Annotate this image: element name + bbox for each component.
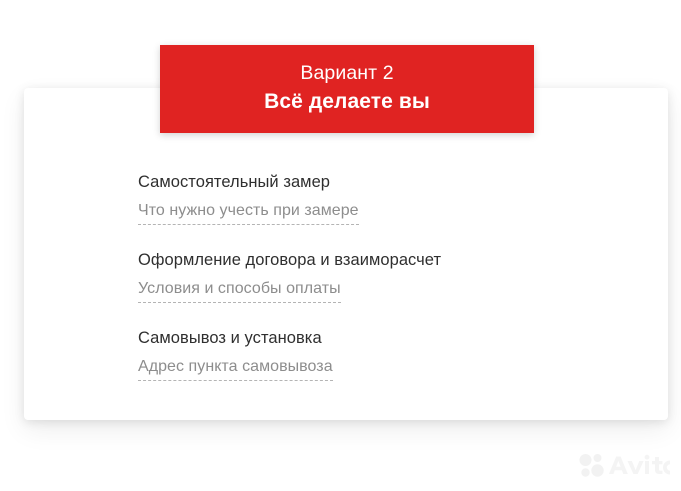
screenshot-root: Вариант 2 Всё делаете вы Самостоятельный… bbox=[0, 0, 681, 491]
steps-list: Самостоятельный замер Что нужно учесть п… bbox=[138, 171, 608, 381]
step-link[interactable]: Условия и способы оплаты bbox=[138, 278, 341, 303]
list-item: Самовывоз и установка Адрес пункта самов… bbox=[138, 327, 608, 381]
list-item: Оформление договора и взаиморасчет Услов… bbox=[138, 249, 608, 303]
avito-logo-icon bbox=[578, 451, 670, 479]
step-title: Самовывоз и установка bbox=[138, 327, 608, 349]
banner-variant-label: Вариант 2 bbox=[300, 61, 393, 85]
banner-headline: Всё делаете вы bbox=[264, 88, 430, 115]
step-title: Самостоятельный замер bbox=[138, 171, 608, 193]
step-link[interactable]: Адрес пункта самовывоза bbox=[138, 356, 333, 381]
avito-watermark bbox=[578, 451, 670, 479]
step-link[interactable]: Что нужно учесть при замере bbox=[138, 200, 359, 225]
variant-banner: Вариант 2 Всё делаете вы bbox=[160, 45, 534, 133]
list-item: Самостоятельный замер Что нужно учесть п… bbox=[138, 171, 608, 225]
step-title: Оформление договора и взаиморасчет bbox=[138, 249, 608, 271]
